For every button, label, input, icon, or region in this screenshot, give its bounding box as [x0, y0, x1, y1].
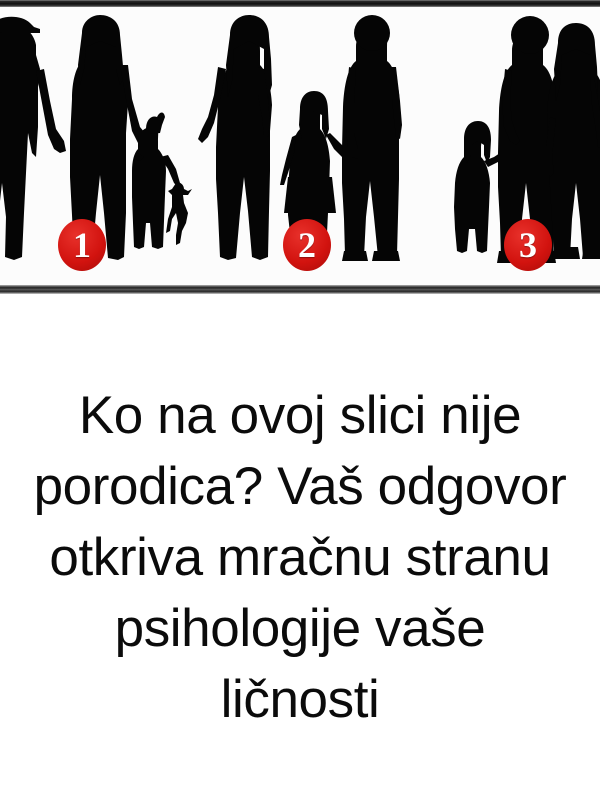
puzzle-image: 1 2 3	[0, 0, 600, 294]
image-top-border	[0, 0, 600, 7]
page-root: 1 2 3 Ko na ovoj slici nije porodica? Va…	[0, 0, 600, 800]
article-headline: Ko na ovoj slici nije porodica? Vaš odgo…	[0, 380, 600, 735]
badge-1[interactable]: 1	[58, 219, 106, 271]
badge-3[interactable]: 3	[504, 219, 552, 271]
image-bottom-border	[0, 285, 600, 294]
badge-2[interactable]: 2	[283, 219, 331, 271]
